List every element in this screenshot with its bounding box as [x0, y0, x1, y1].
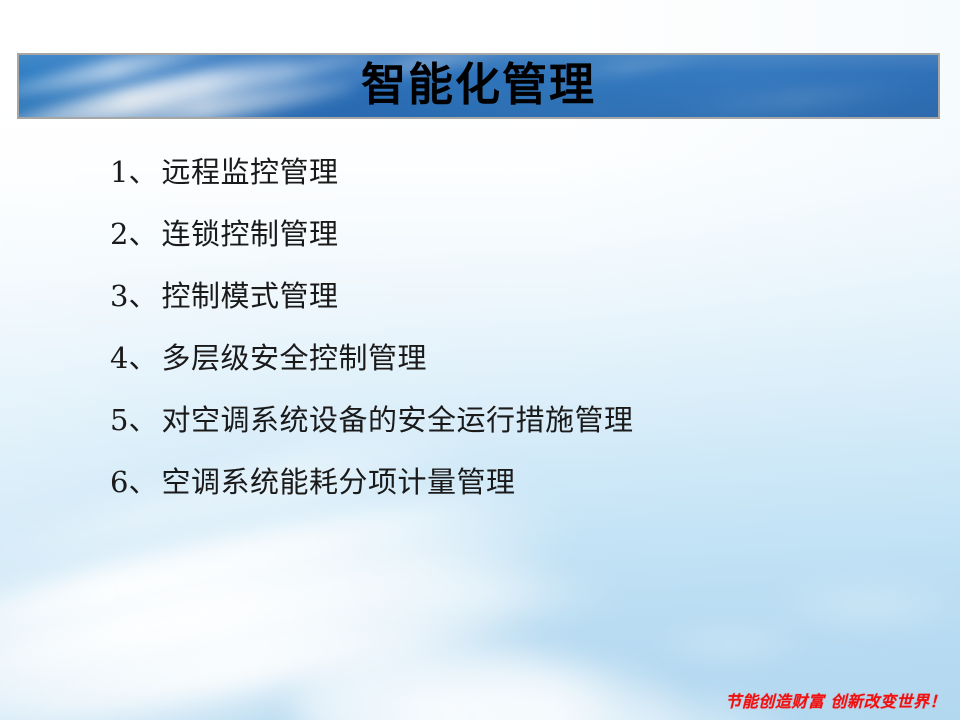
bullet-separator-5: 、: [128, 406, 157, 435]
bullet-text-3: 控制模式管理: [161, 282, 338, 311]
slide-title: 智能化管理: [19, 55, 938, 117]
bullet-separator-4: 、: [128, 344, 157, 373]
bullet-item-2: 2 、 连锁控制管理: [110, 220, 900, 282]
bullet-item-6: 6 、 空调系统能耗分项计量管理: [110, 468, 900, 530]
bullet-number-1: 1: [110, 158, 128, 187]
bullet-item-5: 5 、 对空调系统设备的安全运行措施管理: [110, 406, 900, 468]
bullet-text-6: 空调系统能耗分项计量管理: [161, 468, 515, 497]
bullet-number-5: 5: [110, 406, 128, 435]
bullet-number-4: 4: [110, 344, 128, 373]
slide-canvas: 智能化管理 1 、 远程监控管理 2 、 连锁控制管理 3 、 控制模式管理 4…: [0, 0, 960, 720]
bullet-item-3: 3 、 控制模式管理: [110, 282, 900, 344]
bullet-separator-1: 、: [128, 158, 157, 187]
bullet-list: 1 、 远程监控管理 2 、 连锁控制管理 3 、 控制模式管理 4 、 多层级…: [110, 158, 900, 530]
bullet-item-4: 4 、 多层级安全控制管理: [110, 344, 900, 406]
title-banner: 智能化管理: [17, 53, 940, 119]
bullet-separator-2: 、: [128, 220, 157, 249]
bullet-text-5: 对空调系统设备的安全运行措施管理: [161, 406, 633, 435]
footer-slogan: 节能创造财富 创新改变世界！: [725, 688, 946, 712]
bullet-number-6: 6: [110, 468, 128, 497]
bullet-separator-3: 、: [128, 282, 157, 311]
bullet-separator-6: 、: [128, 468, 157, 497]
bullet-item-1: 1 、 远程监控管理: [110, 158, 900, 220]
bullet-text-1: 远程监控管理: [161, 158, 338, 187]
bullet-text-4: 多层级安全控制管理: [161, 344, 427, 373]
bullet-text-2: 连锁控制管理: [161, 220, 338, 249]
bullet-number-3: 3: [110, 282, 128, 311]
bullet-number-2: 2: [110, 220, 128, 249]
